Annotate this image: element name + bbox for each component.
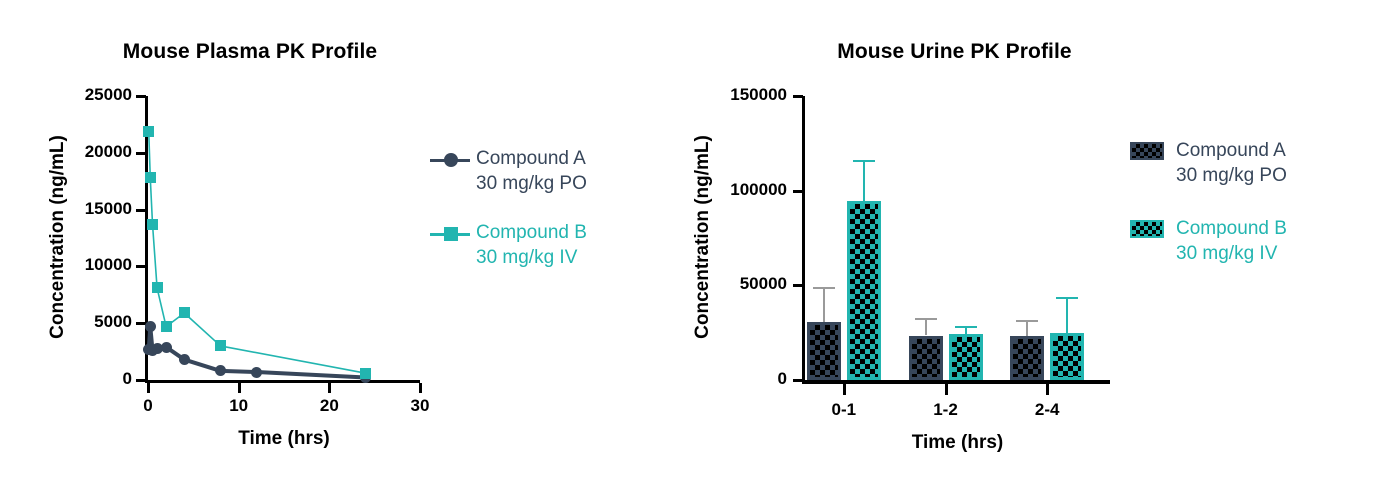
plasma-point-compound-a [179, 354, 190, 365]
legend-square-marker-icon [444, 227, 458, 241]
urine-error-bar-cap [955, 326, 977, 328]
urine-error-bar-stem [823, 287, 825, 322]
urine-chart-title: Mouse Urine PK Profile [610, 40, 1299, 64]
urine-x-axis-label: Time (hrs) [838, 432, 1078, 454]
plasma-point-compound-a [161, 342, 172, 353]
plasma-line-compound-b [149, 131, 366, 373]
legend-label-compound-a: Compound A 30 mg/kg PO [1176, 138, 1287, 188]
urine-y-tick [793, 284, 803, 287]
urine-error-bar-cap [915, 318, 937, 320]
urine-x-tick [1046, 384, 1049, 395]
plasma-point-compound-b [360, 368, 371, 379]
urine-bar-compound-b [949, 334, 983, 380]
urine-error-bar-cap [1016, 320, 1038, 322]
urine-error-bar-cap [813, 287, 835, 289]
legend-circle-marker-icon [444, 153, 458, 167]
urine-y-tick-label: 150000 [675, 85, 787, 105]
legend-label-compound-b: Compound B 30 mg/kg IV [476, 220, 587, 270]
urine-x-tick [945, 384, 948, 395]
plasma-point-compound-b [143, 126, 154, 137]
urine-y-tick [793, 379, 803, 382]
legend-label-compound-a: Compound A 30 mg/kg PO [476, 146, 587, 196]
urine-y-axis-label: Concentration (ng/mL) [692, 117, 714, 357]
figure-pk-profiles: Mouse Plasma PK Profile Concentration (n… [0, 0, 1379, 492]
urine-error-bar-cap [853, 160, 875, 162]
plasma-point-compound-a [251, 367, 262, 378]
panel-mouse-urine-pk: Mouse Urine PK Profile Concentration (ng… [690, 0, 1379, 492]
panel-mouse-plasma-pk: Mouse Plasma PK Profile Concentration (n… [0, 0, 690, 492]
urine-y-tick-label: 0 [675, 369, 787, 389]
urine-y-tick [793, 95, 803, 98]
legend-swatch-compound-b [1130, 220, 1164, 238]
urine-bar-compound-a [807, 322, 841, 380]
urine-error-bar-cap [1056, 297, 1078, 299]
urine-bar-compound-a [1010, 336, 1044, 380]
urine-x-tick-label: 2-4 [997, 400, 1097, 420]
urine-x-tick-label: 0-1 [794, 400, 894, 420]
urine-error-bar-stem [1026, 320, 1028, 336]
urine-legend: Compound A 30 mg/kg PO Compound B 30 mg/… [1130, 140, 1379, 290]
urine-x-axis-line [802, 380, 1110, 384]
legend-label-compound-b: Compound B 30 mg/kg IV [1176, 216, 1287, 266]
urine-bar-compound-a [909, 336, 943, 380]
plasma-point-compound-b [145, 172, 156, 183]
plasma-point-compound-b [161, 321, 172, 332]
urine-y-tick [793, 190, 803, 193]
urine-y-axis-line [802, 96, 805, 382]
plasma-legend: Compound A 30 mg/kg PO Compound B 30 mg/… [430, 148, 670, 288]
plasma-point-compound-b [152, 282, 163, 293]
urine-error-bar-stem [925, 318, 927, 335]
urine-bar-compound-b [1050, 333, 1084, 380]
urine-y-tick-label: 50000 [675, 274, 787, 294]
plasma-point-compound-b [215, 340, 226, 351]
plasma-point-compound-b [147, 219, 158, 230]
urine-bar-compound-b [847, 201, 881, 380]
urine-x-tick-label: 1-2 [896, 400, 996, 420]
legend-swatch-compound-a [1130, 142, 1164, 160]
urine-x-tick [843, 384, 846, 395]
urine-error-bar-stem [863, 160, 865, 201]
plasma-point-compound-b [179, 307, 190, 318]
plasma-point-compound-a [145, 321, 156, 332]
urine-y-tick-label: 100000 [675, 180, 787, 200]
urine-error-bar-stem [1066, 297, 1068, 333]
